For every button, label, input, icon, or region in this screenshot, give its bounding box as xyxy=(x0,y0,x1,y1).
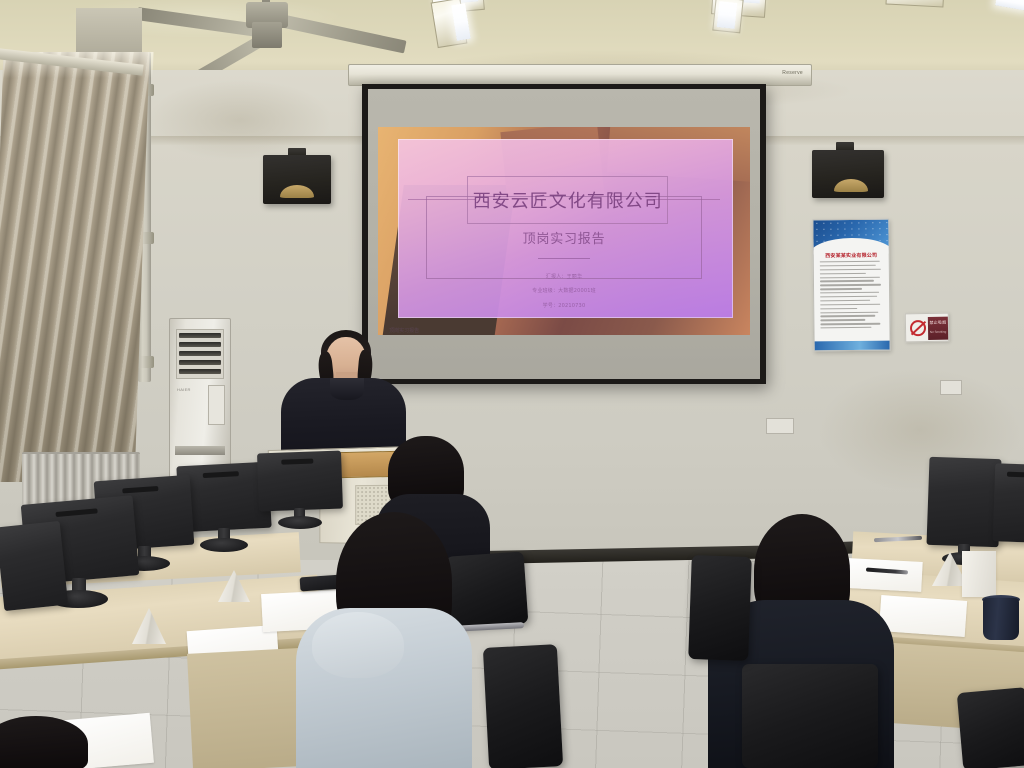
wall-speaker-right xyxy=(812,150,884,198)
monitor-vent xyxy=(55,508,97,517)
paper-sheet-right-2 xyxy=(879,595,967,637)
projector-screen-housing[interactable]: Reserve xyxy=(348,64,812,86)
monitor-vent xyxy=(1007,472,1024,478)
no-smoking-label-cn: 禁止吸烟 xyxy=(928,320,948,326)
ac-slat xyxy=(179,351,221,356)
curtain-folds xyxy=(0,52,150,482)
monitor-right-2 xyxy=(993,463,1024,543)
air-conditioner-unit[interactable]: HAIER xyxy=(169,318,231,478)
ac-slat xyxy=(179,360,221,365)
presenter-collar xyxy=(330,378,364,400)
no-smoking-label-en: No Smoking xyxy=(928,330,948,334)
ac-vent-grille xyxy=(176,329,224,379)
slide-rule-left xyxy=(408,199,475,200)
poster-footer-band xyxy=(815,341,890,351)
slide-meta-presenter: 汇报人：王丽华 xyxy=(378,273,750,280)
paper-sheet-right-1 xyxy=(847,558,922,592)
chair-back-front-center[interactable] xyxy=(483,644,563,768)
wall-speaker-left xyxy=(263,155,331,204)
monitor-vent xyxy=(281,459,313,465)
ac-slat xyxy=(179,369,221,374)
student-b-hood xyxy=(312,612,404,678)
ac-slat xyxy=(179,342,221,347)
monitor-vent xyxy=(203,471,239,478)
classroom-photo-scene: HAIER Reserve 西安云匠文化有限公司 xyxy=(0,0,1024,768)
window-frame xyxy=(76,8,142,54)
housing-brand-label: Reserve xyxy=(782,70,803,76)
monitor-vent xyxy=(122,486,158,493)
ac-control-panel[interactable] xyxy=(208,385,225,425)
slide-meta-class: 专业班级：大数据20001班 xyxy=(378,287,750,294)
chair-back-right-rear[interactable] xyxy=(688,555,752,661)
monitor-base xyxy=(200,538,248,552)
tissue-box xyxy=(962,551,996,597)
poster-title-text: 西安某某实业有限公司 xyxy=(814,252,889,260)
coffee-mug[interactable] xyxy=(983,598,1019,640)
slide-subtitle-text: 顶岗实习报告 xyxy=(378,228,750,247)
slide-title-box: 西安云匠文化有限公司 xyxy=(467,176,668,224)
chair-back-far-right[interactable] xyxy=(957,687,1024,768)
projected-slide: 西安云匠文化有限公司 顶岗实习报告 汇报人：王丽华 专业班级：大数据20001班… xyxy=(378,127,750,335)
slide-divider xyxy=(538,258,590,259)
monitor-right-1 xyxy=(926,457,1001,547)
projector-screen: 西安云匠文化有限公司 顶岗实习报告 汇报人：王丽华 专业班级：大数据20001班… xyxy=(362,84,766,384)
slide-title-text: 西安云匠文化有限公司 xyxy=(473,187,663,213)
monitor-left-1 xyxy=(0,521,68,611)
poster-body-text xyxy=(820,261,885,341)
monitor-left-5 xyxy=(257,451,343,512)
light-tube-4 xyxy=(717,1,738,29)
slide-meta-id: 学号：20210730 xyxy=(378,302,750,309)
chair-back-right[interactable] xyxy=(742,664,878,768)
wall-outlet-2[interactable] xyxy=(940,380,962,395)
projector-screen-surface: 西安云匠文化有限公司 顶岗实习报告 汇报人：王丽华 专业班级：大数据20001班… xyxy=(368,89,760,379)
no-smoking-sign: 禁止吸烟 No Smoking xyxy=(905,313,949,343)
ac-button-row[interactable] xyxy=(175,446,225,455)
ac-brand-label: HAIER xyxy=(177,387,191,392)
ceiling-fan-motor xyxy=(252,22,282,48)
wall-outlet-1[interactable] xyxy=(766,418,794,434)
slide-footer-text: 顶岗实习报告 xyxy=(389,327,612,334)
no-smoking-plate: 禁止吸烟 No Smoking xyxy=(928,317,948,340)
speaker-grille-right xyxy=(834,179,868,192)
wall-notice-poster[interactable]: 西安某某实业有限公司 xyxy=(812,219,890,352)
monitor-base xyxy=(278,516,322,529)
chair-back-center[interactable] xyxy=(446,551,529,628)
ac-slat xyxy=(179,333,221,338)
speaker-grille-left xyxy=(280,185,314,198)
window-curtain xyxy=(0,52,150,482)
